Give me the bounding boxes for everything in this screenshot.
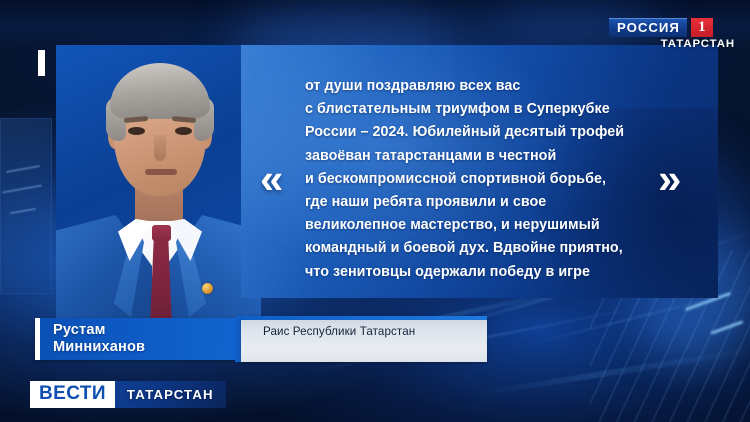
role-strip-top-rule (241, 316, 487, 320)
quote-open-mark-icon: « (260, 158, 283, 200)
channel-logo-name: РОССИЯ (609, 18, 687, 37)
speaker-name: Рустам Минниханов (53, 322, 145, 357)
channel-logo-number: 1 (691, 18, 713, 37)
speaker-portrait (56, 45, 261, 326)
portrait-chin (138, 177, 182, 195)
channel-logo-row: РОССИЯ 1 (609, 18, 713, 37)
portrait-nose (154, 135, 166, 161)
portrait-lapel-pin-icon (202, 283, 213, 294)
portrait-eye-right (175, 127, 192, 135)
accent-tick-mark (38, 50, 45, 76)
portrait-mouth (145, 169, 177, 175)
program-bug: ВЕСТИ ТАТАРСТАН (30, 381, 226, 408)
program-bug-name: ВЕСТИ (30, 381, 115, 408)
nameplate-accent-bar (35, 318, 40, 360)
portrait-eye-left (128, 127, 145, 135)
speaker-role: Раис Республики Татарстан (263, 325, 415, 338)
channel-logo-region: ТАТАРСТАН (661, 38, 735, 50)
background-tech-panel-left (0, 118, 52, 294)
quote-panel: « » от души поздравляю всех вас с блиста… (241, 45, 718, 298)
speaker-nameplate: Рустам Минниханов (35, 318, 257, 360)
broadcast-lower-third-graphic: « » от души поздравляю всех вас с блиста… (0, 0, 750, 422)
portrait-necktie-knot (152, 225, 171, 241)
program-bug-region: ТАТАРСТАН (115, 381, 226, 408)
channel-logo: РОССИЯ 1 ТАТАРСТАН (609, 18, 737, 52)
quote-text: от души поздравляю всех вас с блистатель… (305, 75, 673, 284)
speaker-role-strip: Раис Республики Татарстан (241, 316, 487, 362)
